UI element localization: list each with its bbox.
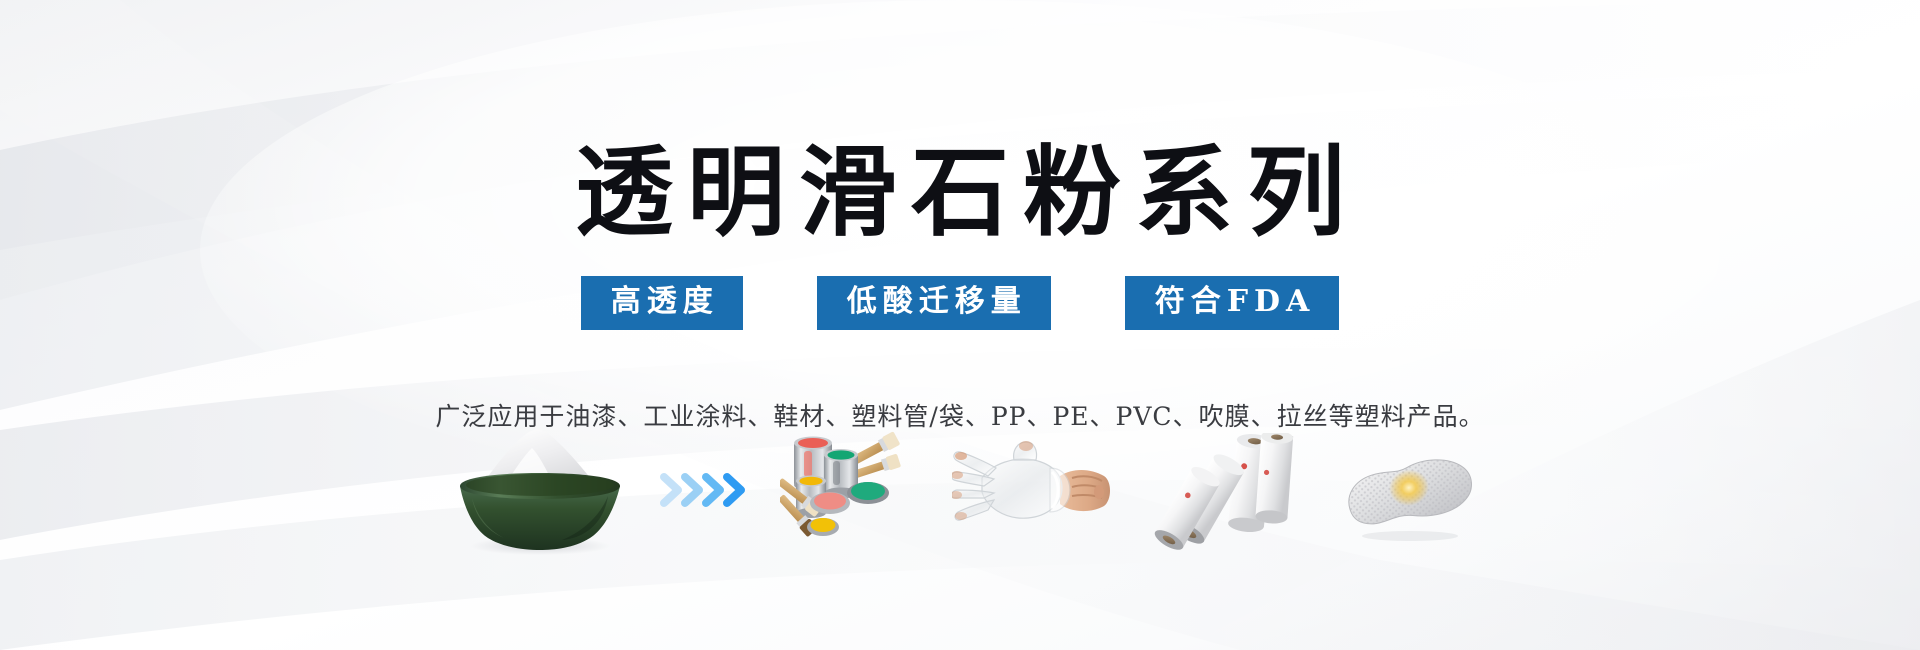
plastic-gloves-image <box>952 438 1154 553</box>
process-arrows-icon <box>658 463 780 528</box>
feature-badge-list: 高透度 低酸迁移量 符合FDA <box>0 276 1920 330</box>
shoe-insole-image <box>1338 438 1478 553</box>
banner-subtitle: 广泛应用于油漆、工业涂料、鞋材、塑料管/袋、PP、PE、PVC、吹膜、拉丝等塑料… <box>0 397 1920 433</box>
feature-badge-low-acid-migration[interactable]: 低酸迁移量 <box>817 276 1051 330</box>
feature-badge-high-transparency[interactable]: 高透度 <box>581 276 743 330</box>
banner-title: 透明滑石粉系列 <box>0 144 1920 242</box>
paint-cans-image <box>780 427 952 564</box>
talc-powder-bowl-image <box>442 428 658 563</box>
feature-badge-fda-compliant[interactable]: 符合FDA <box>1125 276 1340 330</box>
product-image-strip <box>0 430 1920 560</box>
film-rolls-image <box>1154 433 1338 558</box>
product-banner: 透明滑石粉系列 高透度 低酸迁移量 符合FDA 广泛应用于油漆、工业涂料、鞋材、… <box>0 0 1920 650</box>
